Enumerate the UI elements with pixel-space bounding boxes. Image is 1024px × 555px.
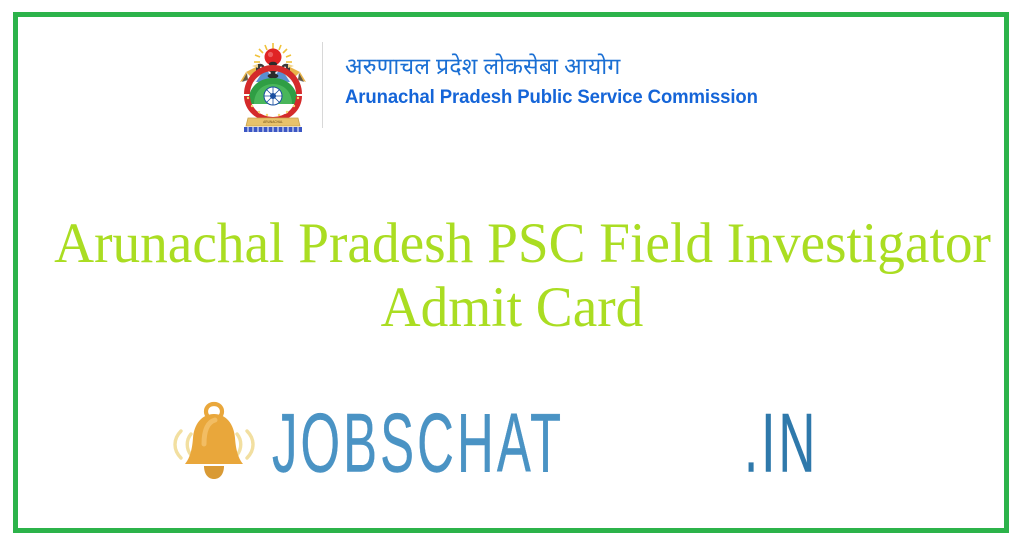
svg-text:ARUNACHAL: ARUNACHAL [263, 120, 283, 124]
site-logo: JOBSCHAT .IN [0, 398, 1024, 489]
page-title-line-1: Arunachal Pradesh PSC Field Investigator [54, 212, 970, 276]
site-logo-text-tld: .IN [744, 402, 818, 486]
header: PUBLIC SERVICE ARUNACHAL [0, 42, 1024, 134]
svg-text:PUBLIC SERVICE: PUBLIC SERVICE [259, 111, 288, 115]
admit-card-banner: PUBLIC SERVICE ARUNACHAL [0, 0, 1024, 555]
organization-name-block: अरुणाचल प्रदेश लोकसेबा आयोग Arunachal Pr… [345, 42, 780, 110]
page-title-line-2: Admit Card [54, 276, 970, 340]
arunachal-pradesh-state-emblem-icon: PUBLIC SERVICE ARUNACHAL [234, 42, 312, 134]
organization-name-hindi: अरुणाचल प्रदेश लोकसेबा आयोग [345, 52, 780, 82]
ringing-bell-icon [160, 398, 268, 489]
organization-name-english: Arunachal Pradesh Public Service Commiss… [345, 84, 758, 110]
page-title: Arunachal Pradesh PSC Field Investigator… [0, 212, 1024, 340]
header-divider [322, 42, 323, 128]
site-logo-wordmark: JOBSCHAT .IN [272, 403, 863, 485]
site-logo-text-primary: JOBSCHAT [272, 402, 564, 486]
